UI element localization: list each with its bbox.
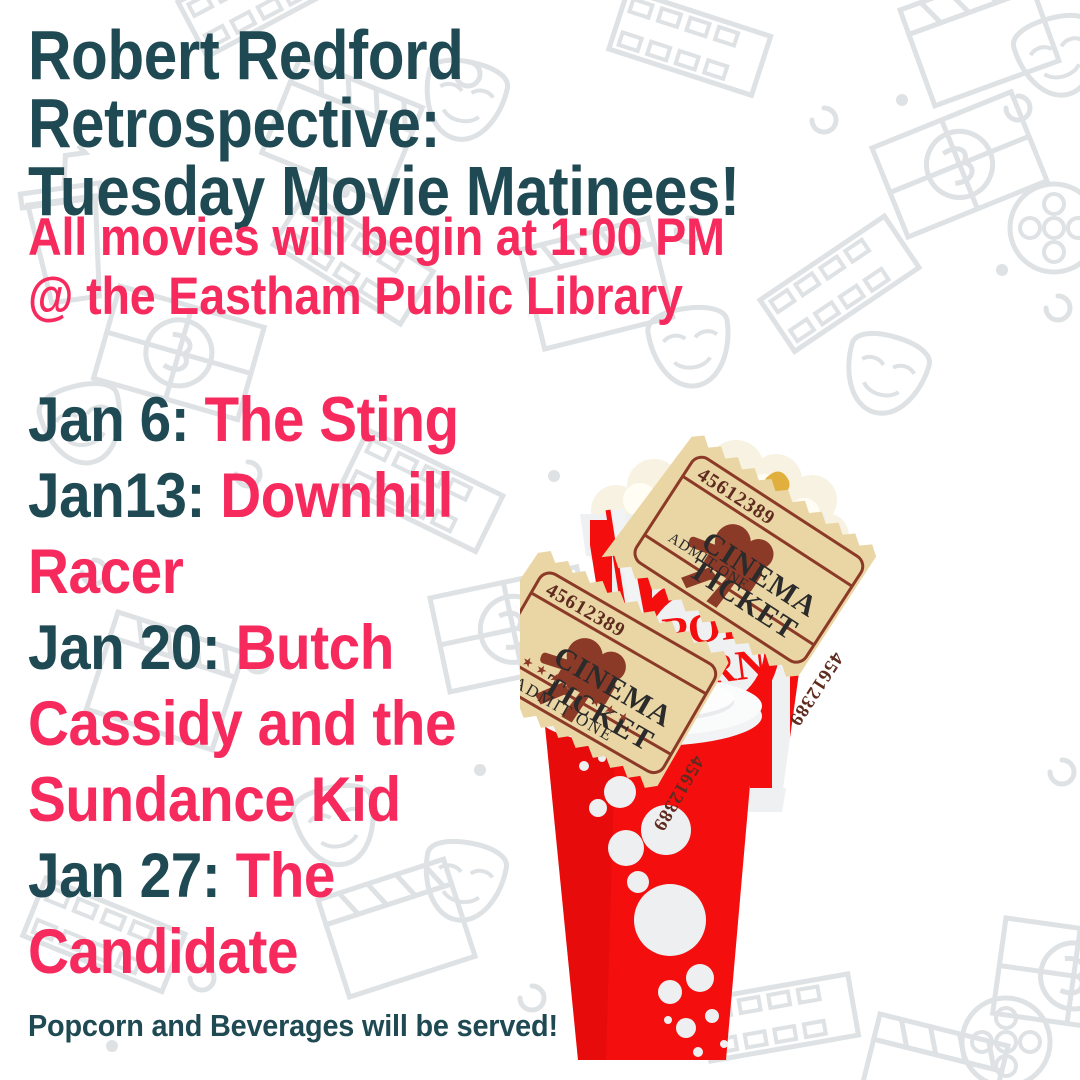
- poster-text-column: Robert Redford Retrospective: Tuesday Mo…: [28, 0, 988, 1080]
- schedule-entry-date: Jan 6:: [28, 385, 204, 455]
- schedule-entry-title: The Sting: [204, 385, 458, 455]
- poster-subheadline: All movies will begin at 1:00 PM @ the E…: [28, 208, 890, 327]
- schedule-entry-date: Jan 27:: [28, 841, 236, 911]
- poster-headline: Robert Redford Retrospective: Tuesday Mo…: [28, 22, 845, 226]
- poster-canvas: POP CORN: [0, 0, 1080, 1080]
- schedule-entry: Jan 20: Butch Cassidy and the Sundance K…: [28, 610, 532, 838]
- poster-footnote: Popcorn and Beverages will be served!: [28, 1008, 558, 1044]
- schedule-entry: Jan 6: The Sting: [28, 382, 532, 458]
- schedule-entry-date: Jan 20:: [28, 613, 236, 683]
- schedule-entry-date: Jan13:: [28, 461, 220, 531]
- schedule-entry: Jan 27: The Candidate: [28, 838, 532, 990]
- movie-schedule-list: Jan 6: The StingJan13: Downhill RacerJan…: [28, 382, 532, 990]
- schedule-entry: Jan13: Downhill Racer: [28, 458, 532, 610]
